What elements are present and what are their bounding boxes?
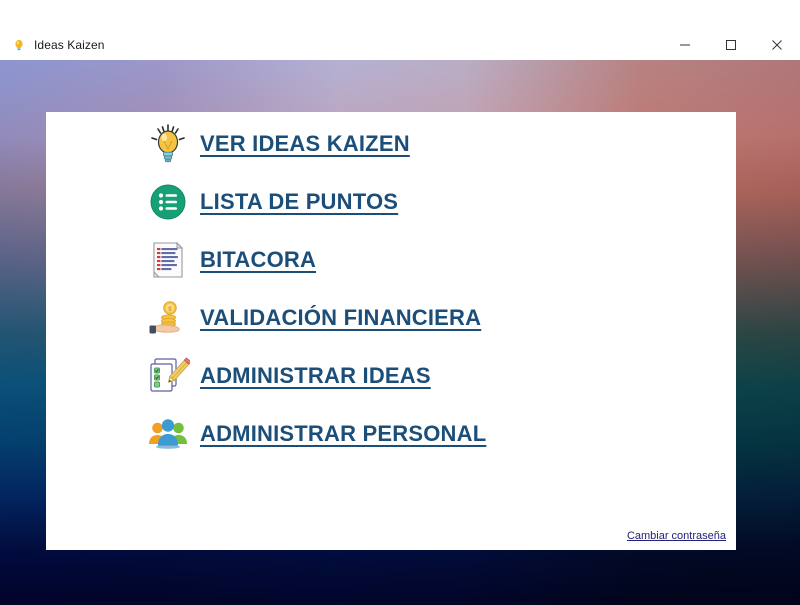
document-log-icon (146, 238, 190, 282)
menu-item-label: BITACORA (200, 247, 316, 273)
lightbulb-icon (12, 38, 26, 52)
menu-item-validacion-financiera[interactable]: $ VALIDACIÓN FINANCIERA (146, 296, 481, 340)
main-menu: VER IDEAS KAIZEN (146, 122, 486, 470)
client-area-background: VER IDEAS KAIZEN (0, 60, 800, 605)
menu-item-lista-de-puntos[interactable]: LISTA DE PUNTOS (146, 180, 398, 224)
checklist-pencil-icon (146, 354, 190, 398)
menu-item-bitacora[interactable]: BITACORA (146, 238, 316, 282)
menu-item-label: VER IDEAS KAIZEN (200, 131, 410, 157)
window-title: Ideas Kaizen (34, 38, 105, 52)
hand-coins-icon: $ (146, 296, 190, 340)
bullet-list-circle-icon (146, 180, 190, 224)
menu-item-administrar-ideas[interactable]: ADMINISTRAR IDEAS (146, 354, 431, 398)
people-group-icon (146, 412, 190, 456)
close-button[interactable] (754, 30, 800, 60)
menu-item-label: ADMINISTRAR PERSONAL (200, 421, 486, 447)
minimize-button[interactable] (662, 30, 708, 60)
maximize-button[interactable] (708, 30, 754, 60)
menu-item-label: ADMINISTRAR IDEAS (200, 363, 431, 389)
menu-item-label: VALIDACIÓN FINANCIERA (200, 305, 481, 331)
svg-text:$: $ (168, 306, 172, 313)
application-window: Ideas Kaizen (0, 30, 800, 605)
menu-item-ver-ideas-kaizen[interactable]: VER IDEAS KAIZEN (146, 122, 410, 166)
title-bar-left: Ideas Kaizen (0, 38, 662, 52)
menu-item-label: LISTA DE PUNTOS (200, 189, 398, 215)
menu-item-administrar-personal[interactable]: ADMINISTRAR PERSONAL (146, 412, 486, 456)
lightbulb-icon (146, 122, 190, 166)
title-bar: Ideas Kaizen (0, 30, 800, 60)
change-password-link[interactable]: Cambiar contraseña (627, 530, 726, 542)
window-controls (662, 30, 800, 60)
content-panel: VER IDEAS KAIZEN (46, 112, 736, 550)
